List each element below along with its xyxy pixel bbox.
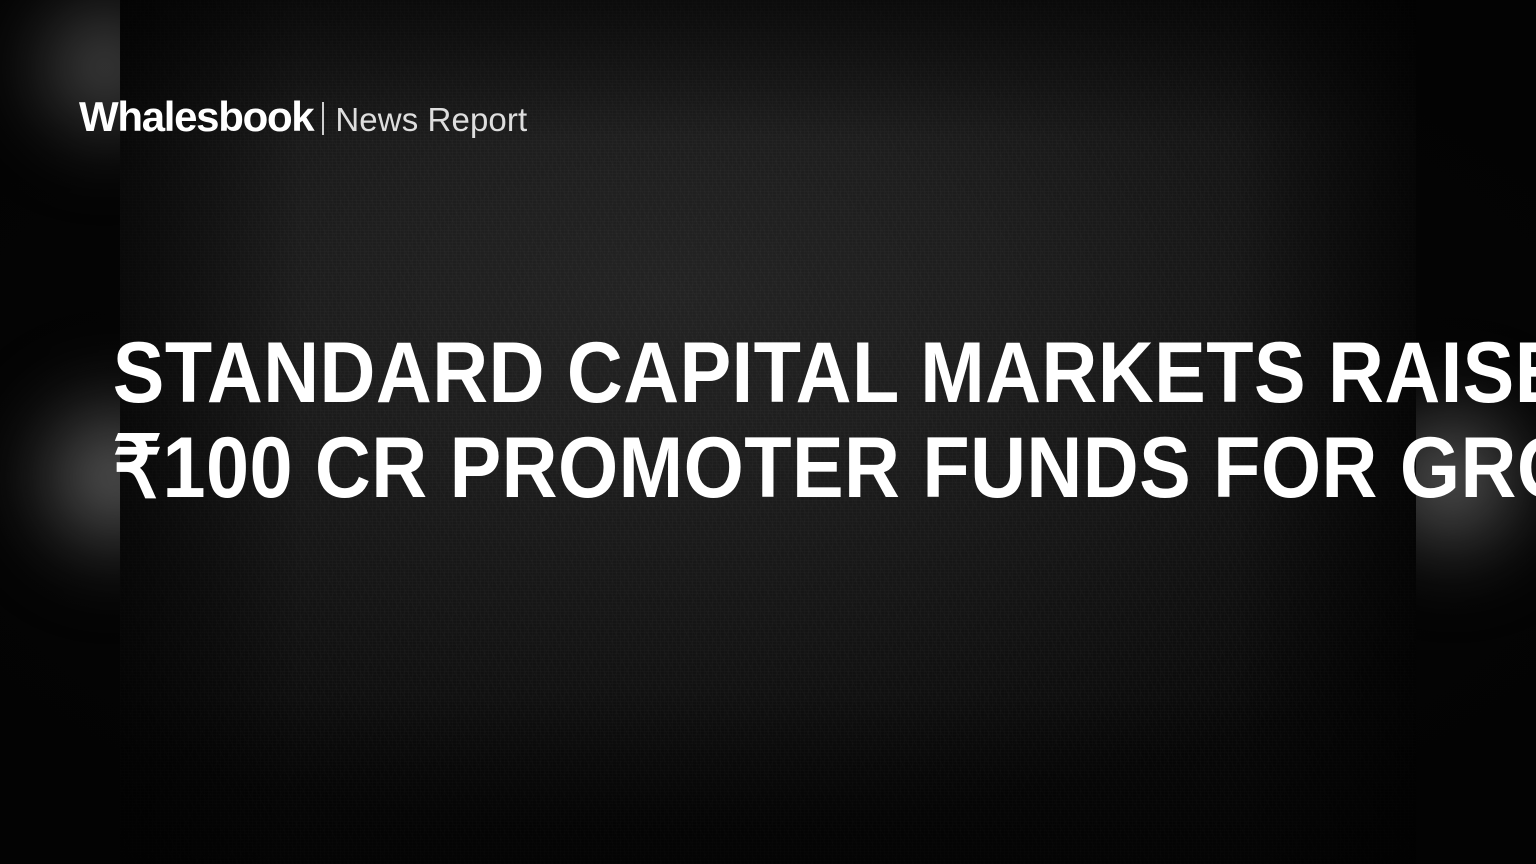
headline-line-1: STANDARD CAPITAL MARKETS RAISES [113,326,1423,421]
brand-wordmark: Whalesbook [79,96,313,138]
headline: STANDARD CAPITAL MARKETS RAISES ₹100 CR … [0,326,1536,516]
headline-line-2: ₹100 CR PROMOTER FUNDS FOR GROWTH [113,421,1423,516]
brand-subtitle: News Report [335,103,527,136]
brand-divider [322,102,324,135]
brand-lockup: Whalesbook News Report [79,96,527,138]
news-card-stage: Whalesbook News Report STANDARD CAPITAL … [0,0,1536,864]
